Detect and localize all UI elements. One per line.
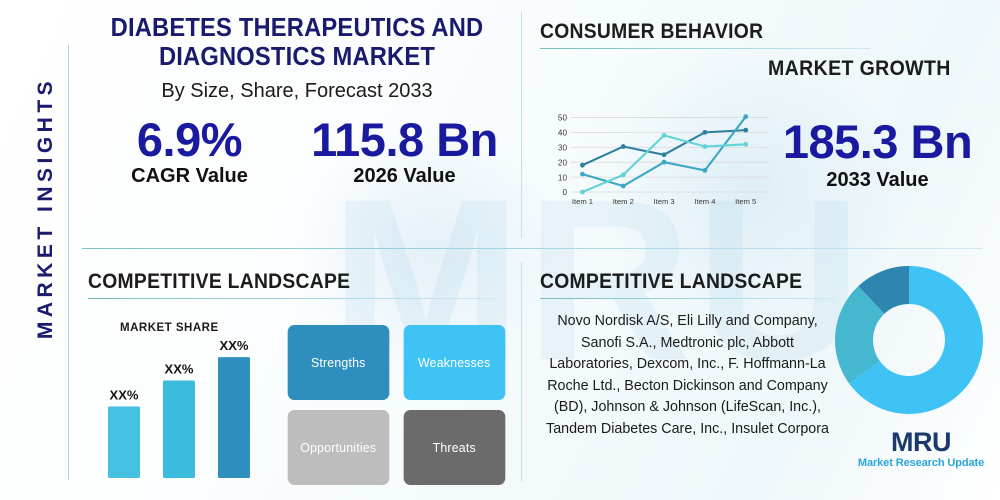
svg-text:Item 2: Item 2 [613, 197, 634, 206]
competitive-landscape-left-rule [88, 298, 498, 299]
cagr-value: 6.9% [82, 113, 297, 167]
cagr-caption: CAGR Value [82, 165, 297, 188]
consumer-behavior-title: CONSUMER BEHAVIOR [540, 20, 844, 44]
svg-text:40: 40 [558, 129, 568, 138]
svg-text:XX%: XX% [220, 338, 249, 353]
mru-logo: MRU Market Research Update [857, 428, 985, 469]
competitive-landscape-right-header: COMPETITIVE LANDSCAPE Novo Nordisk A/S, … [540, 270, 835, 440]
svg-text:XX%: XX% [165, 362, 194, 377]
stat-2026: 115.8 Bn 2026 Value [297, 113, 512, 188]
horizontal-divider [82, 248, 982, 249]
stat-cagr: 6.9% CAGR Value [82, 113, 297, 188]
consumer-behavior-header: CONSUMER BEHAVIOR [540, 20, 870, 49]
svg-text:Item 4: Item 4 [694, 197, 715, 206]
line-chart-series [580, 114, 748, 194]
consumer-behavior-rule [540, 48, 870, 49]
mru-logo-tagline: Market Research Update [857, 457, 985, 469]
svg-text:Item 5: Item 5 [735, 197, 756, 206]
svg-text:Item 1: Item 1 [572, 197, 593, 206]
swot-strengths-label: Strengths [311, 355, 366, 370]
market-growth-caption: 2033 Value [760, 169, 995, 192]
page-title: DIABETES THERAPEUTICS AND DIAGNOSTICS MA… [97, 14, 497, 72]
market-share-bar-chart: XX%XX%XX% [100, 330, 270, 480]
vertical-divider-top [521, 12, 522, 238]
svg-text:50: 50 [558, 114, 568, 123]
left-rail-divider [68, 45, 69, 480]
svg-text:20: 20 [558, 158, 568, 167]
market-insights-vertical-label: MARKET INSIGHTS [34, 58, 58, 358]
swot-threats-label: Threats [432, 440, 475, 455]
swot-opportunities-label: Opportunities [300, 440, 376, 455]
swot-weaknesses-label: Weaknesses [418, 355, 490, 370]
donut-slices [835, 266, 983, 414]
svg-text:0: 0 [562, 188, 567, 197]
line-chart-y-axis-labels: 01020304050 [558, 114, 568, 198]
line-chart-gridlines [571, 117, 769, 192]
competitive-landscape-right-title: COMPETITIVE LANDSCAPE [540, 270, 811, 294]
svg-text:10: 10 [558, 173, 568, 182]
mru-logo-text: MRU [857, 428, 985, 456]
swot-weaknesses-box[interactable]: Weaknesses [403, 325, 504, 400]
swot-strengths-box[interactable]: Strengths [288, 325, 389, 400]
value-2026: 115.8 Bn [297, 113, 512, 167]
market-growth-block: 185.3 Bn 2033 Value [760, 116, 995, 192]
swot-opportunities-box[interactable]: Opportunities [288, 410, 389, 485]
header-block: DIABETES THERAPEUTICS AND DIAGNOSTICS MA… [82, 14, 512, 188]
svg-text:30: 30 [558, 143, 568, 152]
swot-threats-box[interactable]: Threats [403, 410, 504, 485]
consumer-behavior-line-chart: 01020304050 Item 1Item 2Item 3Item 4Item… [543, 100, 773, 215]
market-growth-title: MARKET GROWTH [768, 57, 951, 81]
market-growth-value: 185.3 Bn [760, 116, 995, 168]
line-chart-x-axis-labels: Item 1Item 2Item 3Item 4Item 5 [572, 197, 756, 206]
vertical-divider-bottom [521, 262, 522, 482]
swot-grid: Strengths Weaknesses Opportunities Threa… [285, 325, 507, 485]
competitive-landscape-left-title: COMPETITIVE LANDSCAPE [88, 270, 465, 294]
page-subtitle: By Size, Share, Forecast 2033 [82, 80, 512, 103]
infographic-root: MRU MARKET INSIGHTS DIABETES THERAPEUTIC… [0, 0, 1000, 500]
value-2026-caption: 2026 Value [297, 165, 512, 188]
svg-text:XX%: XX% [110, 388, 139, 403]
competitive-landscape-left-header: COMPETITIVE LANDSCAPE [88, 270, 498, 299]
header-stats: 6.9% CAGR Value 115.8 Bn 2026 Value [82, 113, 512, 188]
competitive-landscape-companies: Novo Nordisk A/S, Eli Lilly and Company,… [540, 311, 835, 440]
market-share-donut-chart [833, 264, 985, 416]
competitive-landscape-right-rule [540, 298, 835, 299]
svg-text:Item 3: Item 3 [654, 197, 675, 206]
